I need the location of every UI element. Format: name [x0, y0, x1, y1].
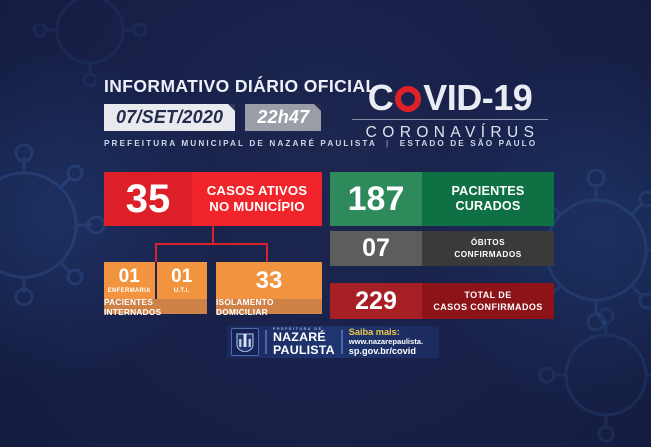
stat-card-pacientes-curados: 187 PACIENTES CURADOS	[330, 172, 554, 226]
website-url-line2: sp.gov.br/covid	[349, 346, 423, 356]
covid-logo: C VID-19 CORONAVÍRUS	[345, 80, 555, 142]
stat-label-line2: CASOS CONFIRMADOS	[433, 301, 542, 313]
breakdown-value-enfermaria: 01	[119, 267, 140, 286]
breakdown-value-uti: 01	[171, 267, 192, 286]
infographic-canvas: INFORMATIVO DIÁRIO OFICIAL 07/SET/2020 2…	[0, 0, 651, 447]
connector-horizontal-bar	[155, 243, 268, 245]
stat-label-line1: PACIENTES	[452, 184, 525, 199]
connector-vertical-stem	[212, 226, 214, 244]
stat-label-line1: CASOS ATIVOS	[207, 183, 308, 199]
stat-value-casos-ativos: 35	[104, 172, 192, 226]
breakdown-cells-isolamento: 33	[216, 262, 322, 299]
stat-label-line1: TOTAL DE	[464, 289, 511, 301]
stat-card-obitos-confirmados: 07 ÓBITOS CONFIRMADOS	[330, 231, 554, 266]
breakdown-cell-isolamento: 33	[216, 262, 322, 299]
stat-value-obitos: 07	[330, 231, 422, 266]
stat-label-line1: ÓBITOS	[471, 237, 505, 248]
connector-drop-right	[266, 243, 268, 262]
city-brand: PREFEITURA DE NAZARÉ PAULISTA	[273, 328, 335, 357]
connector-drop-left	[155, 243, 157, 262]
stat-label-line2: NO MUNICÍPIO	[209, 199, 304, 215]
covid-wordmark: C VID-19	[345, 80, 555, 116]
time-badge: 22h47	[245, 104, 321, 131]
breakdown-card-isolamento: 33 ISOLAMENTO DOMICILIAR	[216, 262, 322, 314]
footer-divider-1	[265, 330, 267, 354]
covid-ring-icon	[395, 86, 421, 112]
website-block[interactable]: Saiba mais: www.nazarepaulista. sp.gov.b…	[349, 327, 423, 356]
covid-letter-c: C	[368, 80, 394, 116]
stat-value-total: 229	[330, 283, 422, 319]
breakdown-footer-isolamento: ISOLAMENTO DOMICILIAR	[216, 299, 322, 314]
breakdown-value-isolamento: 33	[256, 269, 283, 293]
website-url-line1: www.nazarepaulista.	[349, 338, 423, 347]
city-brand-line2: PAULISTA	[273, 344, 335, 357]
covid-subtitle: CORONAVÍRUS	[345, 124, 555, 142]
stat-label-total: TOTAL DE CASOS CONFIRMADOS	[422, 283, 554, 319]
date-badge: 07/SET/2020	[104, 104, 235, 131]
breakdown-cells-internados: 01 ENFERMARIA 01 U.T.I.	[104, 262, 207, 299]
breakdown-footer-internados: PACIENTES INTERNADOS	[104, 299, 207, 314]
stat-label-casos-ativos: CASOS ATIVOS NO MUNICÍPIO	[192, 172, 322, 226]
city-brand-line1: NAZARÉ	[273, 331, 335, 344]
footer-divider-2	[341, 330, 343, 354]
covid-letters-rest: VID-19	[423, 80, 532, 116]
logo-divider	[352, 119, 548, 120]
virus-illustration-bottom-right	[531, 300, 651, 447]
subtitle-municipality: PREFEITURA MUNICIPAL DE NAZARÉ PAULISTA	[104, 139, 377, 148]
city-coat-of-arms-icon	[231, 328, 259, 356]
stat-label-line2: CURADOS	[455, 199, 520, 214]
breakdown-label-enfermaria: ENFERMARIA	[108, 288, 151, 294]
breakdown-label-uti: U.T.I.	[174, 288, 190, 294]
breakdown-cell-enfermaria: 01 ENFERMARIA	[104, 262, 155, 299]
stat-card-casos-ativos: 35 CASOS ATIVOS NO MUNICÍPIO	[104, 172, 322, 226]
footer-bar: PREFEITURA DE NAZARÉ PAULISTA Saiba mais…	[227, 326, 439, 358]
stat-label-line2: CONFIRMADOS	[454, 249, 521, 260]
breakdown-card-internados: 01 ENFERMARIA 01 U.T.I. PACIENTES INTERN…	[104, 262, 207, 314]
breakdown-cell-uti: 01 U.T.I.	[155, 262, 208, 299]
stat-value-pacientes-curados: 187	[330, 172, 422, 226]
stat-card-total-confirmados: 229 TOTAL DE CASOS CONFIRMADOS	[330, 283, 554, 319]
stat-label-pacientes-curados: PACIENTES CURADOS	[422, 172, 554, 226]
stat-label-obitos: ÓBITOS CONFIRMADOS	[422, 231, 554, 266]
